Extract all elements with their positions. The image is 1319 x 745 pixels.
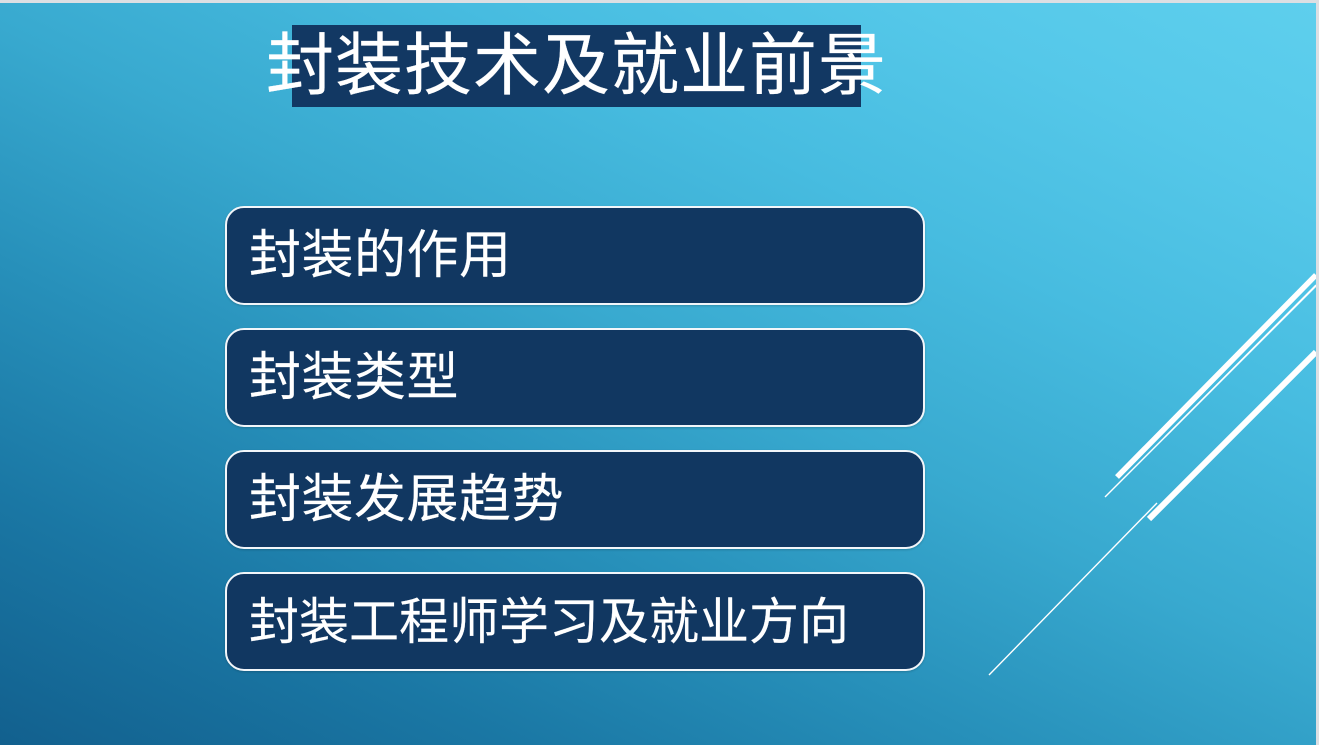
agenda-item-2[interactable]: 封装类型 [225, 328, 925, 427]
agenda-item-label: 封装工程师学习及就业方向 [249, 597, 849, 647]
agenda-list: 封装的作用 封装类型 封装发展趋势 封装工程师学习及就业方向 [225, 206, 925, 671]
deco-line-thin-3 [989, 503, 1157, 675]
deco-line-thin-2 [1105, 286, 1316, 497]
deco-line-thick-2 [1149, 352, 1316, 519]
agenda-item-3[interactable]: 封装发展趋势 [225, 450, 925, 549]
agenda-item-4[interactable]: 封装工程师学习及就业方向 [225, 572, 925, 671]
page-title: 封装技术及就业前景 [266, 32, 887, 100]
agenda-item-label: 封装发展趋势 [249, 474, 564, 526]
diagonal-lines-decoration [896, 3, 1316, 745]
deco-line-thin-1 [1165, 285, 1316, 437]
agenda-item-label: 封装的作用 [249, 230, 512, 282]
agenda-item-1[interactable]: 封装的作用 [225, 206, 925, 305]
deco-line-thick-1 [1117, 275, 1316, 477]
slide-title-box: 封装技术及就业前景 [292, 25, 861, 107]
agenda-item-label: 封装类型 [249, 352, 459, 404]
slide-canvas: 封装技术及就业前景 封装的作用 封装类型 封装发展趋势 封装工程师学习及就业方向 [0, 0, 1319, 745]
